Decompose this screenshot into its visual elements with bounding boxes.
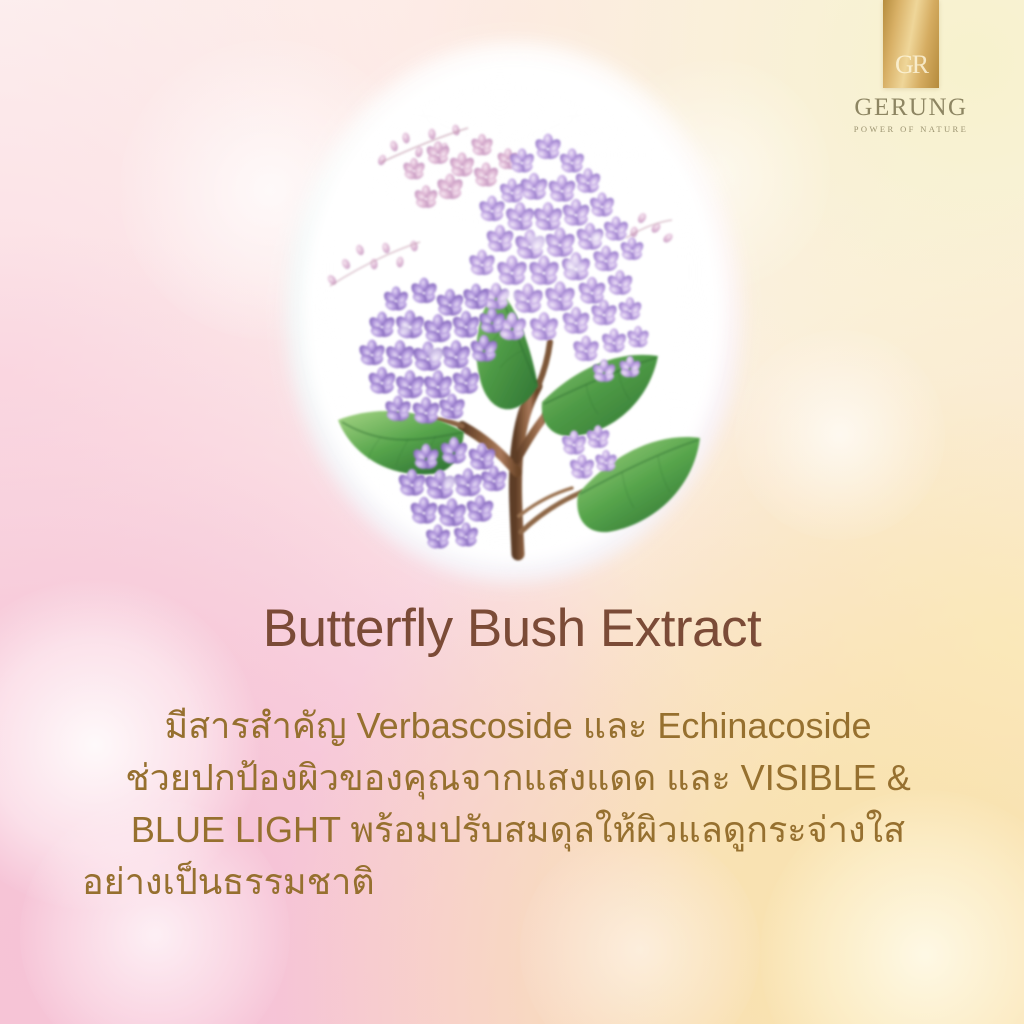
logo-gold-banner: GR [883, 0, 939, 88]
description-line: มีสารสำคัญ Verbascoside และ Echinacoside [78, 700, 958, 752]
bokeh-circle [735, 330, 945, 540]
description-line: BLUE LIGHT พร้อมปรับสมดุลให้ผิวแลดูกระจ่… [78, 804, 958, 856]
brand-tagline: POWER OF NATURE [854, 125, 968, 134]
brand-name: GERUNG [854, 95, 967, 120]
description-line: อย่างเป็นธรรมชาติ [78, 856, 958, 908]
butterfly-bush-illustration [286, 42, 742, 582]
page-title: Butterfly Bush Extract [0, 600, 1024, 658]
description-text: มีสารสำคัญ Verbascoside และ Echinacoside… [78, 700, 958, 908]
poster-canvas: GR GERUNG POWER OF NATURE Butterfly Bush… [0, 0, 1024, 1024]
brand-logo[interactable]: GR GERUNG POWER OF NATURE [826, 0, 996, 134]
logo-monogram-gr: GR [895, 52, 927, 78]
description-line: ช่วยปกป้องผิวของคุณจากแสงแดด และ VISIBLE… [78, 752, 958, 804]
